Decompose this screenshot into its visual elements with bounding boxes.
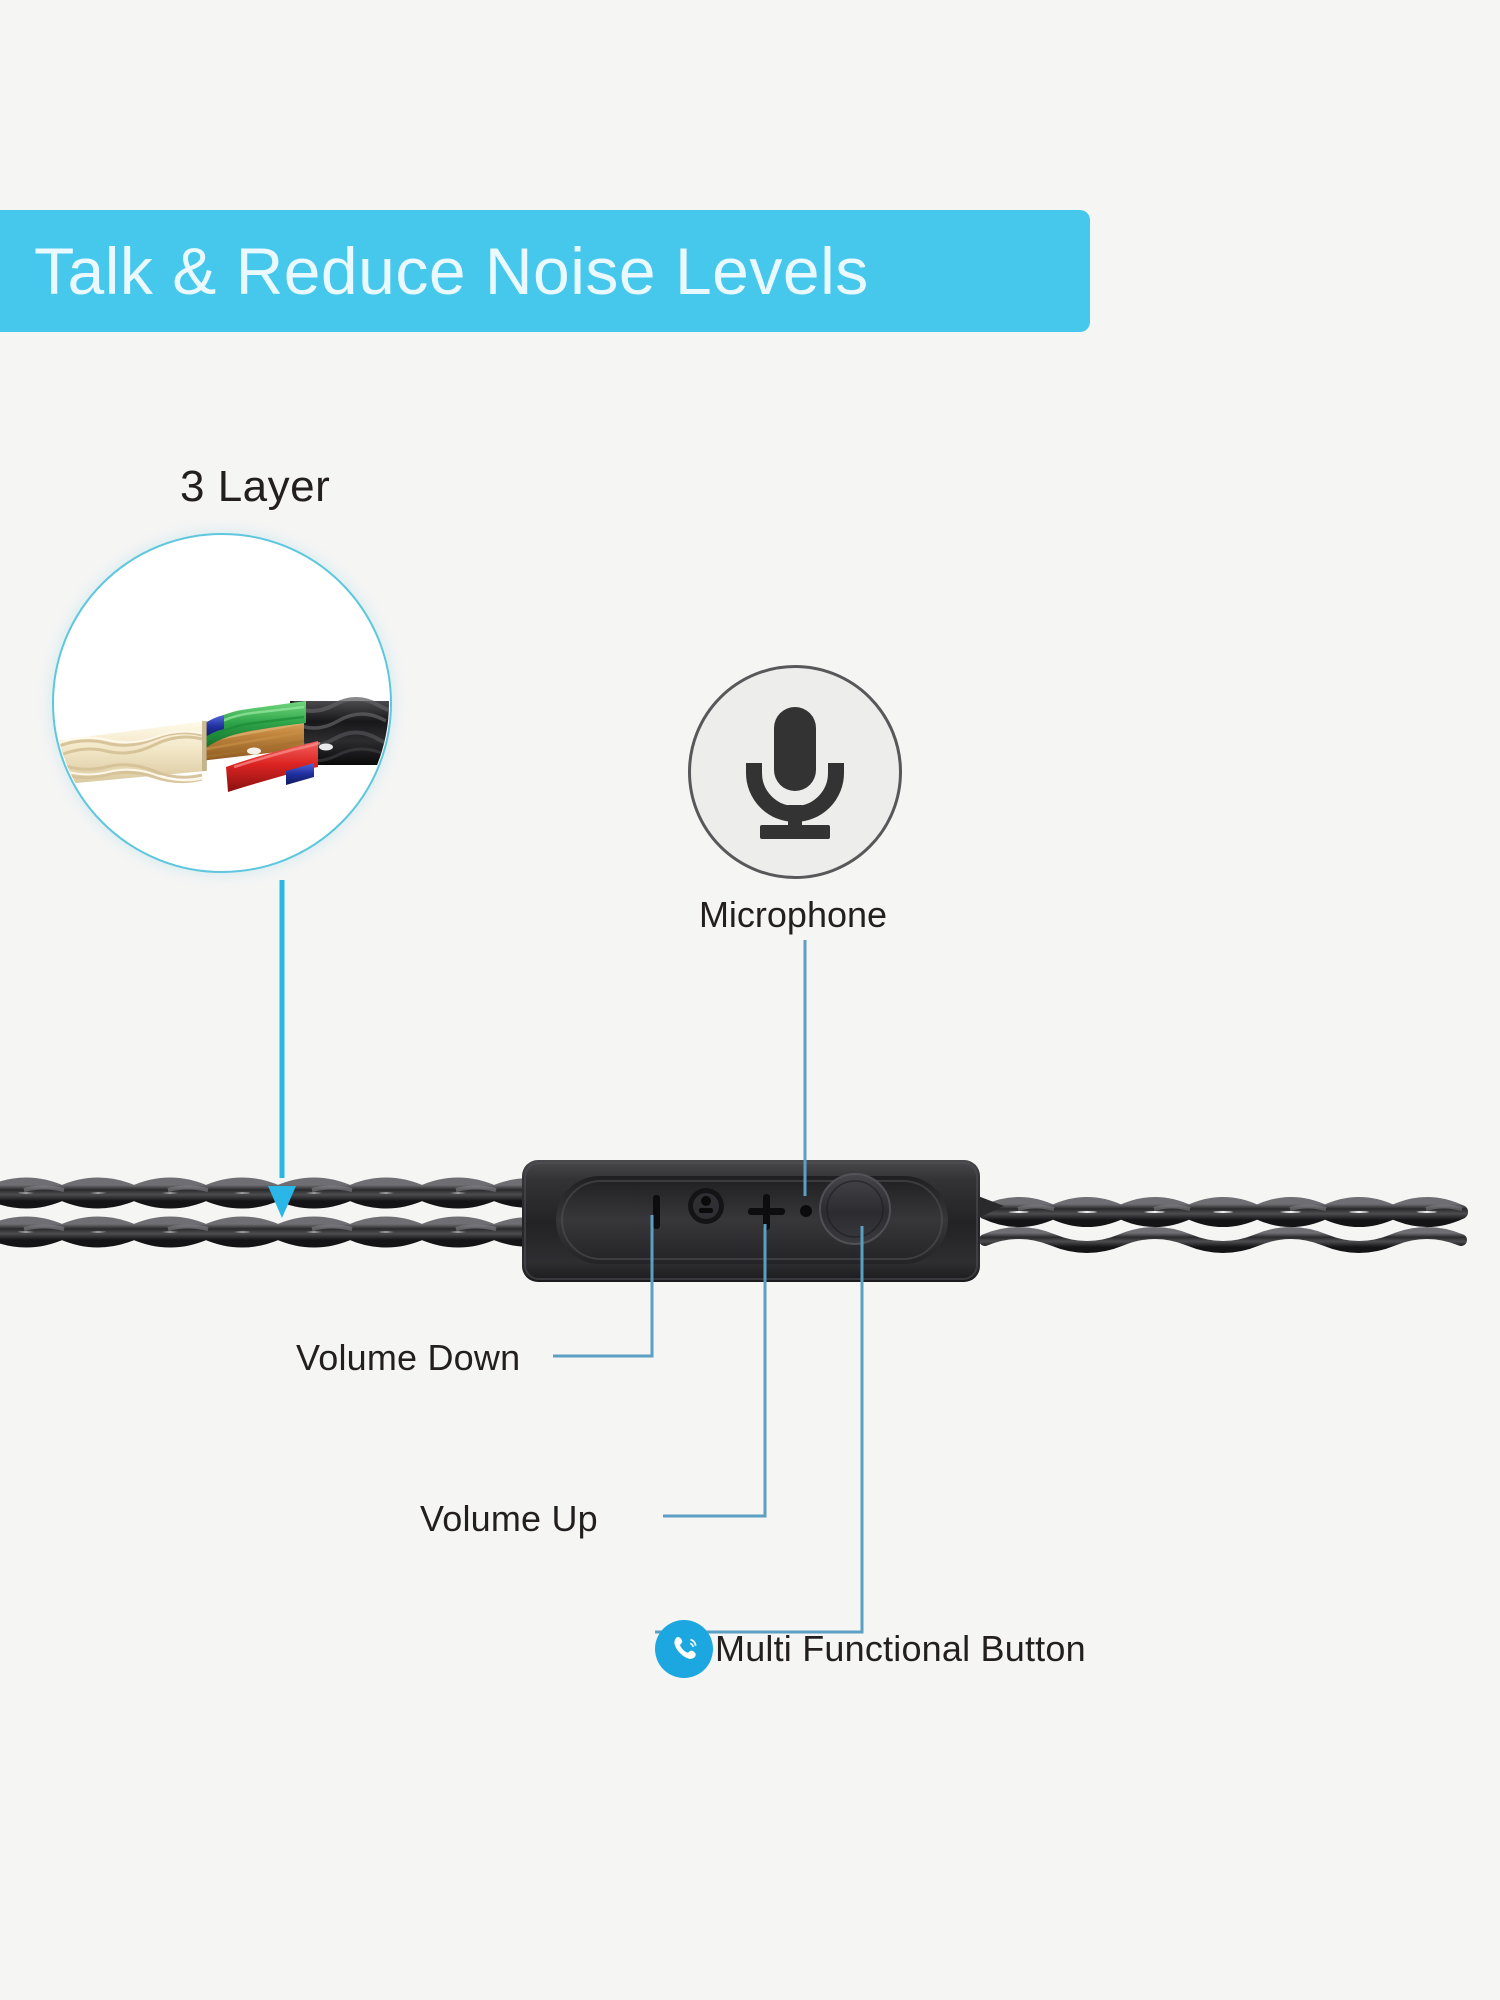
volume-up-glyph (748, 1194, 785, 1230)
callout-volume-up: Volume Up (420, 1498, 598, 1540)
volume-down-glyph (653, 1195, 660, 1229)
infographic-canvas: Talk & Reduce Noise Levels 3 Layer (0, 0, 1500, 2000)
banner-title: Talk & Reduce Noise Levels (34, 238, 869, 304)
multi-functional-button-glyph (820, 1174, 890, 1244)
infographic-page: Talk & Reduce Noise Levels 3 Layer (0, 0, 1500, 2000)
inline-remote-control (522, 1160, 1004, 1282)
cable-left (0, 1185, 550, 1240)
microphone-port-glyph (688, 1188, 724, 1224)
cable-layer-label: 3 Layer (180, 462, 330, 512)
header-banner: Talk & Reduce Noise Levels (0, 210, 1090, 332)
cable-right-highlights (1018, 1207, 1462, 1210)
cable-left-highlights (24, 1188, 496, 1230)
remote-control-glyphs (653, 1174, 890, 1244)
leader-volume-down (553, 1215, 652, 1356)
leader-lines (553, 940, 862, 1632)
phone-call-icon (655, 1620, 713, 1678)
cable-layer-arrow (268, 880, 296, 1218)
microphone-icon (736, 701, 854, 843)
microphone-label: Microphone (683, 894, 903, 936)
microphone-badge (688, 665, 902, 879)
callout-multi-functional-button-label: Multi Functional Button (715, 1628, 1086, 1670)
callout-volume-down: Volume Down (296, 1337, 520, 1379)
cable-right (985, 1204, 1461, 1247)
leader-volume-up (663, 1224, 765, 1516)
cable-cross-section-illustration (54, 535, 390, 871)
leader-multi-functional-button (655, 1226, 862, 1632)
cable-cross-section-magnifier (52, 533, 392, 873)
callout-multi-functional-button: Multi Functional Button (655, 1620, 1086, 1678)
pinhole-glyph (800, 1205, 812, 1217)
